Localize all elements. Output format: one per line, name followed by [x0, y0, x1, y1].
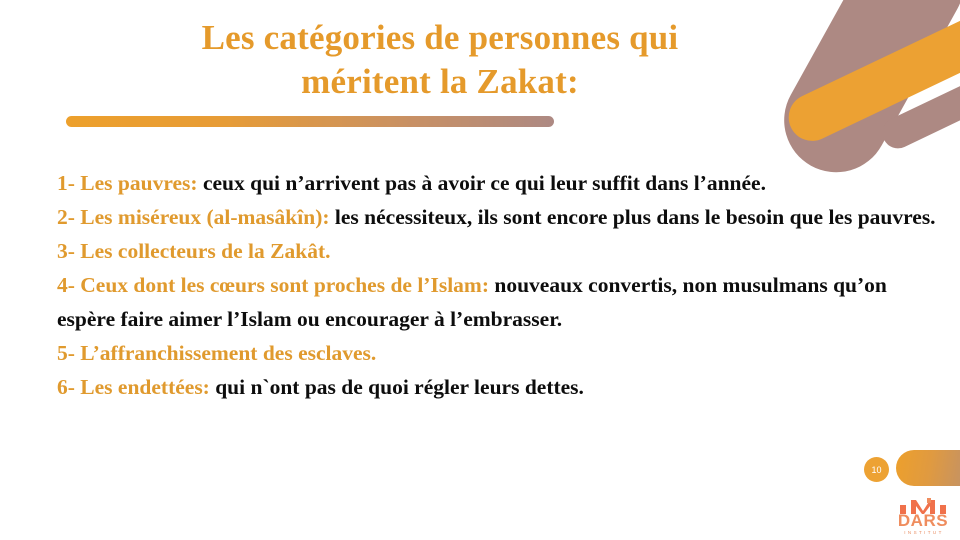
list-item: 3- Les collecteurs de la Zakât. — [57, 234, 943, 268]
slide-canvas: Les catégories de personnes qui méritent… — [0, 0, 960, 540]
list-item-lead: 3- Les collecteurs de la Zakât. — [57, 239, 331, 263]
list-item-lead: 2- Les miséreux (al-masâkîn): — [57, 205, 330, 229]
page-number-badge: 10 — [864, 457, 889, 482]
page-title: Les catégories de personnes qui méritent… — [60, 16, 820, 104]
zakat-categories-list: 1- Les pauvres: ceux qui n’arrivent pas … — [57, 166, 943, 404]
logo-wordmark: DARS — [898, 513, 948, 529]
list-item: 1- Les pauvres: ceux qui n’arrivent pas … — [57, 166, 943, 200]
list-item: 2- Les miséreux (al-masâkîn): les nécess… — [57, 200, 943, 234]
list-item-lead: 6- Les endettées: — [57, 375, 210, 399]
list-item: 5- L’affranchissement des esclaves. — [57, 336, 943, 370]
list-item-rest: les nécessiteux, ils sont encore plus da… — [330, 205, 936, 229]
list-item-rest: ceux qui n’arrivent pas à avoir ce qui l… — [198, 171, 766, 195]
list-item-lead: 5- L’affranchissement des esclaves. — [57, 341, 376, 365]
list-item: 6- Les endettées: qui n`ont pas de quoi … — [57, 370, 943, 404]
brand-logo: DARS INSTITUT — [893, 498, 953, 538]
title-block: Les catégories de personnes qui méritent… — [60, 16, 820, 104]
logo-subtext: INSTITUT — [904, 530, 943, 535]
list-item-lead: 4- Ceux dont les cœurs sont proches de l… — [57, 273, 489, 297]
title-underline-rule — [66, 116, 554, 127]
list-item-rest: qui n`ont pas de quoi régler leurs dette… — [210, 375, 584, 399]
list-item: 4- Ceux dont les cœurs sont proches de l… — [57, 268, 943, 336]
decorative-corner-pill — [896, 450, 960, 486]
list-item-lead: 1- Les pauvres: — [57, 171, 198, 195]
